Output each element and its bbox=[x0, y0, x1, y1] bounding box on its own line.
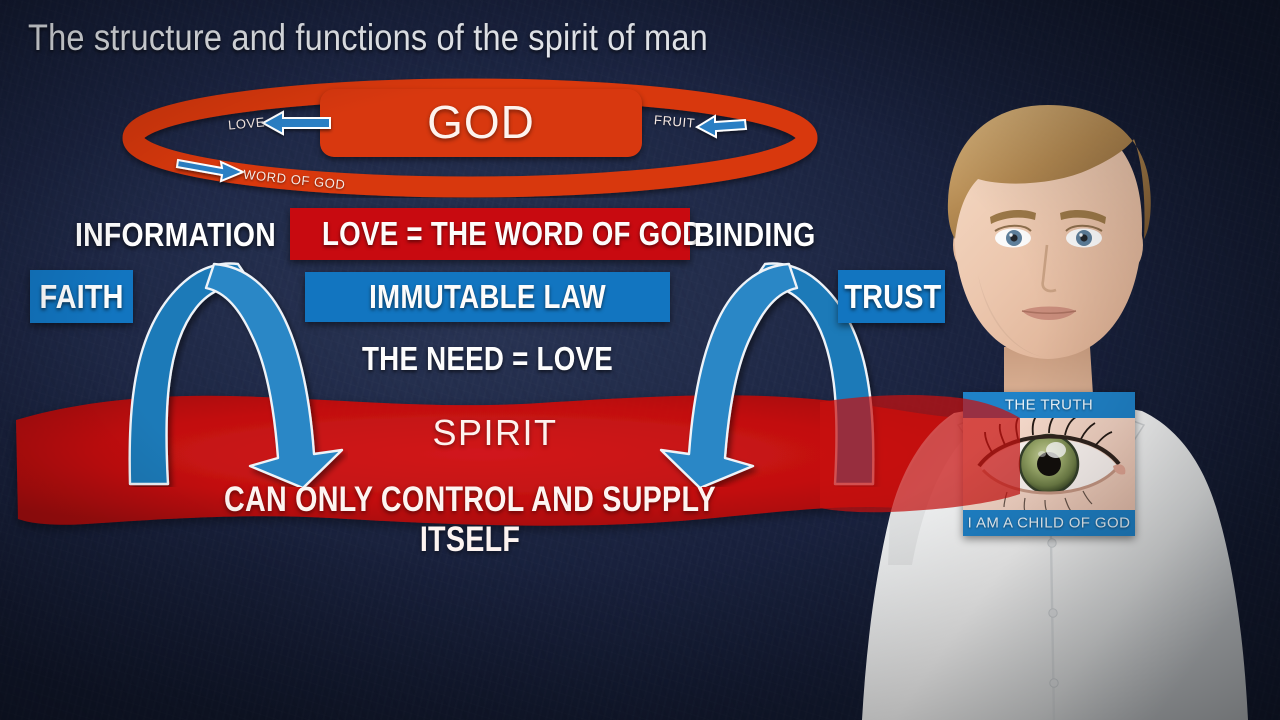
eye-card-bottom-caption-text: I AM A CHILD OF GOD bbox=[963, 515, 1135, 532]
eye-card-top-caption: THE TRUTH bbox=[963, 392, 1135, 418]
need-equals-love-label: THE NEED = LOVE bbox=[334, 340, 641, 378]
eye-card-bottom-caption: I AM A CHILD OF GOD bbox=[963, 510, 1135, 536]
truth-eye-card: THE TRUTH I AM A CHILD OF GOD bbox=[963, 392, 1135, 536]
bar-love-word-of-god-label: LOVE = THE WORD OF GOD bbox=[322, 215, 658, 253]
god-box: GOD bbox=[320, 89, 642, 157]
bar-love-word-of-god: LOVE = THE WORD OF GOD bbox=[290, 208, 690, 260]
spirit-label: SPIRIT bbox=[350, 412, 640, 454]
chip-faith-label: FAITH bbox=[36, 278, 127, 316]
bar-immutable-law: IMMUTABLE LAW bbox=[305, 272, 670, 322]
slide-canvas: The structure and functions of the spiri… bbox=[0, 0, 1280, 720]
chip-faith: FAITH bbox=[30, 270, 133, 323]
spirit-subtitle: CAN ONLY CONTROL AND SUPPLY ITSELF bbox=[175, 480, 765, 560]
bar-immutable-law-label: IMMUTABLE LAW bbox=[334, 278, 641, 316]
label-information: INFORMATION bbox=[75, 216, 276, 254]
label-binding: BINDING bbox=[694, 216, 816, 254]
god-label: GOD bbox=[320, 95, 642, 149]
eye-card-top-caption-text: THE TRUTH bbox=[963, 397, 1135, 414]
page-title: The structure and functions of the spiri… bbox=[28, 19, 708, 56]
